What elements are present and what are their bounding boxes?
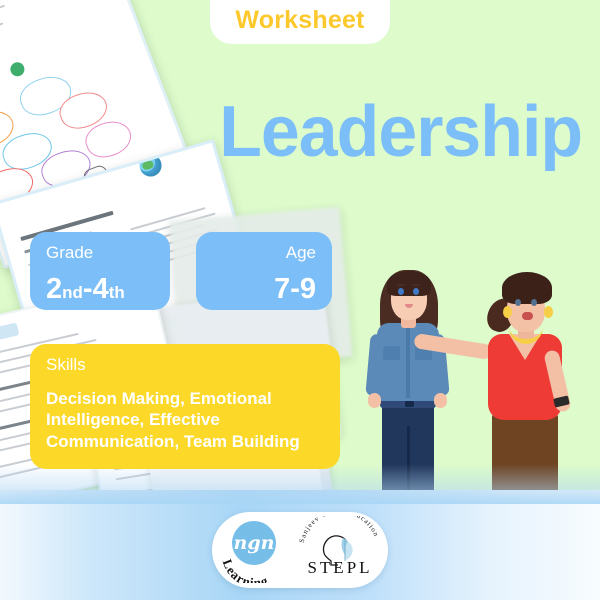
skills-card-label: Skills — [46, 356, 324, 375]
grade-card: Grade 2nd-4th — [30, 232, 170, 310]
logo-pill: ngn Learning Sanjeev Tanna Education — [212, 512, 388, 588]
grade-card-label: Grade — [46, 244, 154, 263]
age-card-label: Age — [212, 244, 316, 263]
svg-text:Sanjeev Tanna Education: Sanjeev Tanna Education — [298, 516, 380, 544]
age-card-value: 7-9 — [212, 275, 316, 304]
skills-card-value: Decision Making, Emotional Intelligence,… — [46, 388, 324, 453]
age-card: Age 7-9 — [196, 232, 332, 310]
grade-separator: - — [83, 273, 93, 305]
ngn-learning-logo: ngn Learning — [218, 517, 292, 583]
grade-suffix-second: th — [109, 283, 125, 302]
svg-text:Learning: Learning — [220, 557, 271, 583]
characters-illustration — [350, 240, 600, 500]
worksheet-badge: Worksheet — [210, 0, 390, 44]
character-red-top-girl — [462, 242, 590, 500]
stepl-logo: Sanjeev Tanna Education STEPL — [298, 516, 382, 584]
grade-value-second: 4 — [93, 273, 109, 305]
worksheet-badge-label: Worksheet — [235, 6, 364, 35]
ngn-learning-arc-text: Learning — [218, 517, 292, 583]
worksheet-poster: Worksheet Leadership Grade 2nd-4th Age 7… — [0, 0, 600, 600]
stepl-wordmark: STEPL — [298, 558, 382, 578]
grade-suffix-first: nd — [62, 283, 83, 302]
character-denim-girl — [356, 252, 460, 500]
grade-card-value: 2nd-4th — [46, 275, 154, 304]
skills-card: Skills Decision Making, Emotional Intell… — [30, 344, 340, 469]
page-title: Leadership — [219, 96, 582, 168]
grade-value-first: 2 — [46, 273, 62, 305]
